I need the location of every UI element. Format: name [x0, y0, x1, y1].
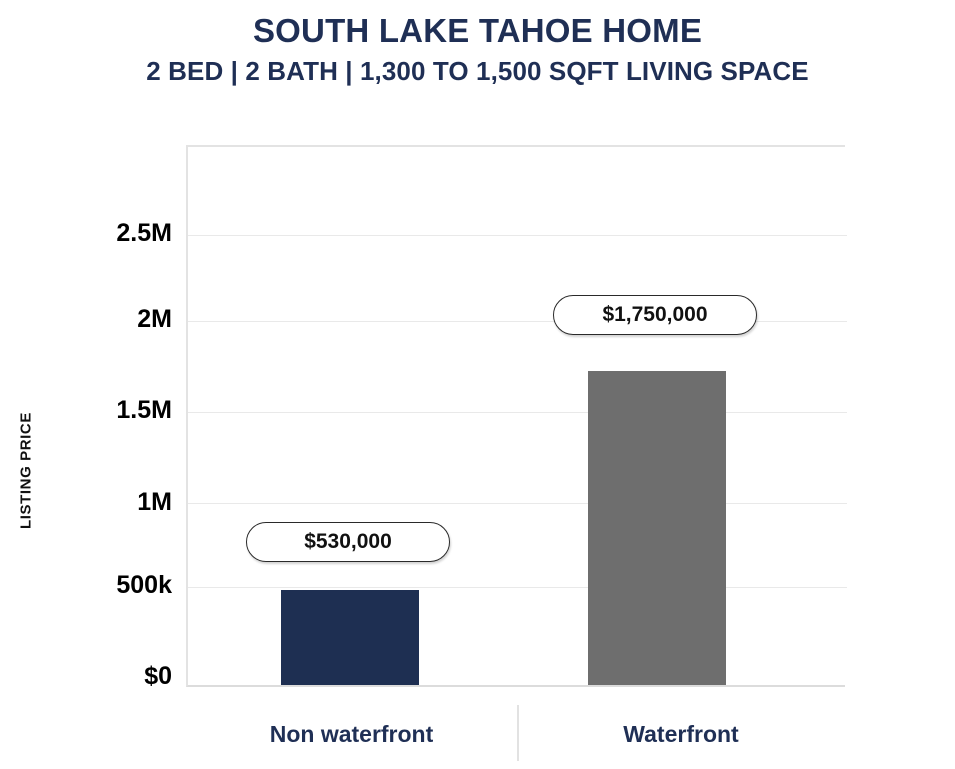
y-tick-label-1-5m: 1.5M — [32, 396, 172, 425]
bar-waterfront[interactable] — [588, 371, 726, 685]
y-tick-label-2m: 2M — [32, 305, 172, 334]
y-tick-label-0: $0 — [32, 662, 172, 691]
gridline-500k — [188, 587, 847, 588]
gridline-1-5m — [188, 412, 847, 413]
y-tick-label-500k: 500k — [32, 571, 172, 600]
x-tick-label-waterfront: Waterfront — [517, 721, 845, 748]
bar-non-waterfront[interactable] — [281, 590, 419, 685]
gridline-1m — [188, 503, 847, 504]
x-tick-label-non-waterfront: Non waterfront — [186, 721, 517, 748]
value-label-non-waterfront: $530,000 — [246, 522, 450, 562]
y-axis-tick-labels: $0 500k 1M 1.5M 2M 2.5M — [26, 0, 172, 769]
x-axis-category-labels: Non waterfront Waterfront — [186, 705, 845, 761]
value-label-waterfront: $1,750,000 — [553, 295, 757, 335]
plot-area — [186, 145, 845, 687]
bar-chart: LISTING PRICE $0 500k 1M 1.5M 2M 2.5M $5… — [0, 0, 955, 769]
y-tick-label-2-5m: 2.5M — [32, 219, 172, 248]
gridline-2-5m — [188, 235, 847, 236]
y-tick-label-1m: 1M — [32, 488, 172, 517]
